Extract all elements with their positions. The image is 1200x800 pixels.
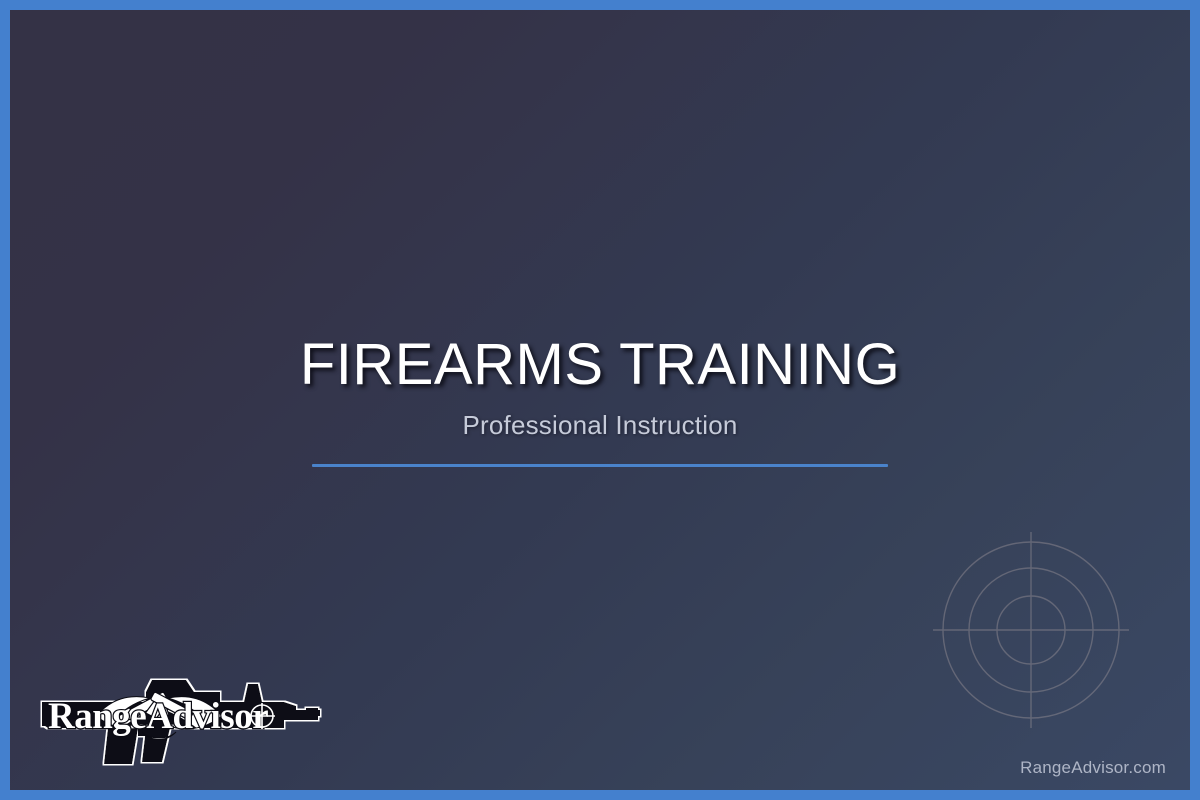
presentation-slide: FIREARMS TRAINING Professional Instructi… <box>0 0 1200 800</box>
page-subtitle: Professional Instruction <box>10 410 1190 441</box>
page-title: FIREARMS TRAINING <box>10 335 1190 396</box>
footer-website-url: RangeAdvisor.com <box>1020 758 1166 778</box>
title-block: FIREARMS TRAINING Professional Instructi… <box>10 335 1190 467</box>
accent-divider <box>312 464 888 467</box>
target-crosshair-icon <box>931 530 1131 730</box>
slide-surface: FIREARMS TRAINING Professional Instructi… <box>10 10 1190 790</box>
brand-logo: RangeAdvisor <box>34 670 324 766</box>
logo-wordmark: RangeAdvisor <box>48 696 268 737</box>
